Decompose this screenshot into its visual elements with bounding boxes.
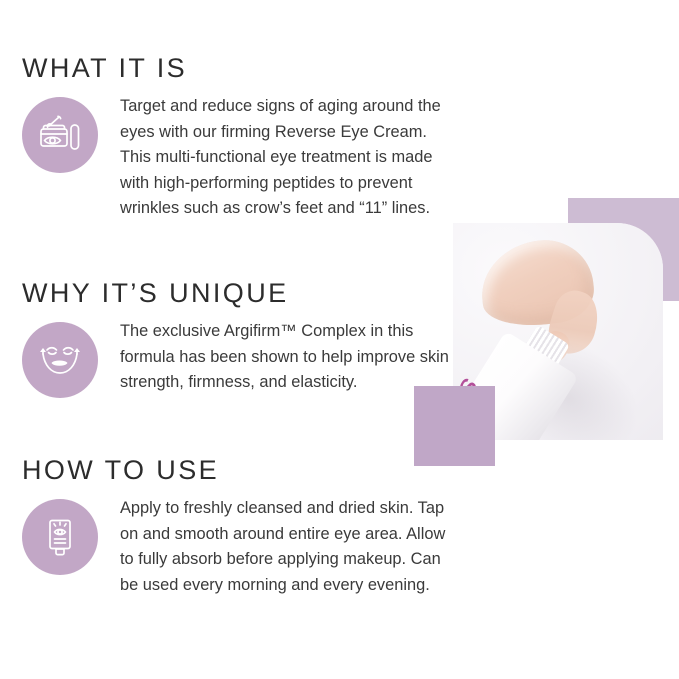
eye-cream-tube-icon bbox=[22, 499, 98, 575]
section-row-what-it-is: Target and reduce signs of aging around … bbox=[22, 94, 452, 222]
eye-cream-jar-icon bbox=[22, 97, 98, 173]
section-text-how-to-use: Apply to freshly cleansed and dried skin… bbox=[98, 496, 452, 598]
lifted-face-icon bbox=[22, 322, 98, 398]
accent-square-mauve bbox=[414, 386, 495, 466]
section-text-why-its-unique: The exclusive Argifirm™ Complex in this … bbox=[98, 319, 452, 396]
section-title-what-it-is: WHAT IT IS bbox=[22, 55, 452, 82]
section-what-it-is: WHAT IT IS Target and reduce signs of ag… bbox=[22, 55, 452, 222]
section-row-why-its-unique: The exclusive Argifirm™ Complex in this … bbox=[22, 319, 452, 398]
section-title-why-its-unique: WHY IT’S UNIQUE bbox=[22, 280, 452, 307]
section-text-what-it-is: Target and reduce signs of aging around … bbox=[98, 94, 452, 222]
section-row-how-to-use: Apply to freshly cleansed and dried skin… bbox=[22, 496, 452, 598]
section-how-to-use: HOW TO USE Apply to freshly cleansed and… bbox=[22, 457, 452, 598]
section-why-its-unique: WHY IT’S UNIQUE The exclusive Argifirm™ … bbox=[22, 280, 452, 398]
section-title-how-to-use: HOW TO USE bbox=[22, 457, 452, 484]
